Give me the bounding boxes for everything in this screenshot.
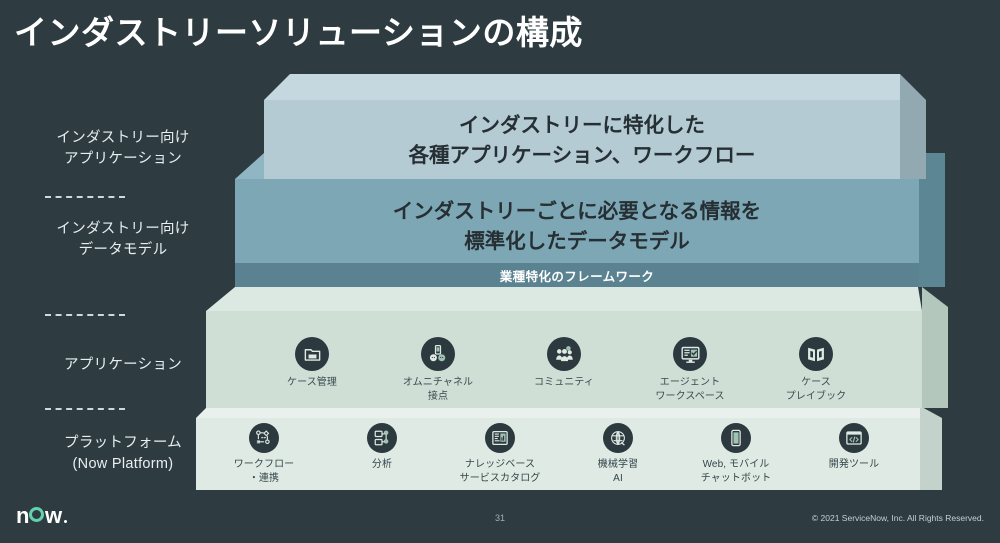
- workflow-nodes-icon: [249, 423, 279, 453]
- tier-applications-top-face: [206, 287, 922, 311]
- tier-industry-apps: インダストリーに特化した 各種アプリケーション、ワークフロー: [264, 100, 900, 179]
- tier-industry-apps-text: インダストリーに特化した 各種アプリケーション、ワークフロー: [264, 111, 900, 170]
- app-item-community-label: コミュニティ: [534, 376, 594, 390]
- tier-industry-apps-top-face: [264, 74, 900, 100]
- framework-band-label: 業種特化のフレームワーク: [500, 266, 654, 285]
- app-item-case-management-label: ケース管理: [287, 376, 337, 390]
- platform-item-machine-learning[interactable]: 機械学習 AI: [560, 423, 676, 485]
- platform-item-workflow[interactable]: ワークフロー ・連携: [206, 423, 322, 485]
- analytics-share-icon: [367, 423, 397, 453]
- platform-item-dev-tools-label: 開発ツール: [829, 458, 880, 472]
- mobile-device-icon: [721, 423, 751, 453]
- tier-platform-side-face: [920, 406, 942, 490]
- platform-item-analytics[interactable]: 分析: [324, 423, 440, 472]
- open-book-icon: [799, 337, 833, 371]
- machine-learning-icon: [603, 423, 633, 453]
- platform-item-knowledge-base[interactable]: ナレッジベース サービスカタログ: [442, 423, 558, 485]
- platform-item-web-mobile-chatbot-label: Web, モバイル チャットボット: [701, 458, 772, 485]
- framework-band: 業種特化のフレームワーク: [235, 263, 919, 287]
- community-people-icon: [547, 337, 581, 371]
- app-item-omnichannel[interactable]: オムニチャネル 接点: [380, 337, 496, 403]
- tier-industry-apps-side-face: [900, 74, 926, 179]
- app-item-agent-workspace-label: エージェント ワークスペース: [655, 376, 724, 403]
- omnichannel-icon: [421, 337, 455, 371]
- tier-applications-side-face: [922, 287, 948, 408]
- app-item-agent-workspace[interactable]: エージェント ワークスペース: [632, 337, 748, 403]
- app-item-case-playbook[interactable]: ケース プレイブック: [758, 337, 874, 403]
- slide-canvas: インダストリーソリューションの構成 インダストリー向け アプリケーション インダ…: [0, 0, 1000, 543]
- tier-data-model-text: インダストリーごとに必要となる情報を 標準化したデータモデル: [235, 197, 919, 256]
- platform-item-machine-learning-label: 機械学習 AI: [598, 458, 638, 485]
- platform-item-web-mobile-chatbot[interactable]: Web, モバイル チャットボット: [678, 423, 794, 485]
- app-item-case-playbook-label: ケース プレイブック: [786, 376, 847, 403]
- platform-icon-row: ワークフロー ・連携 分析: [206, 423, 912, 485]
- platform-item-knowledge-base-label: ナレッジベース サービスカタログ: [460, 458, 541, 485]
- tier-data-model: インダストリーごとに必要となる情報を 標準化したデータモデル 業種特化のフレーム…: [235, 179, 919, 287]
- app-item-omnichannel-label: オムニチャネル 接点: [403, 376, 473, 403]
- monitor-check-icon: [673, 337, 707, 371]
- copyright-notice: © 2021 ServiceNow, Inc. All Rights Reser…: [812, 513, 984, 523]
- app-item-community[interactable]: コミュニティ: [506, 337, 622, 390]
- application-icon-row: ケース管理 オムニチャネル 接点: [254, 337, 874, 403]
- dev-tools-icon: [839, 423, 869, 453]
- platform-item-analytics-label: 分析: [372, 458, 392, 472]
- platform-item-dev-tools[interactable]: 開発ツール: [796, 423, 912, 472]
- knowledge-card-icon: [485, 423, 515, 453]
- platform-item-workflow-label: ワークフロー ・連携: [234, 458, 295, 485]
- app-item-case-management[interactable]: ケース管理: [254, 337, 370, 390]
- folder-icon: [295, 337, 329, 371]
